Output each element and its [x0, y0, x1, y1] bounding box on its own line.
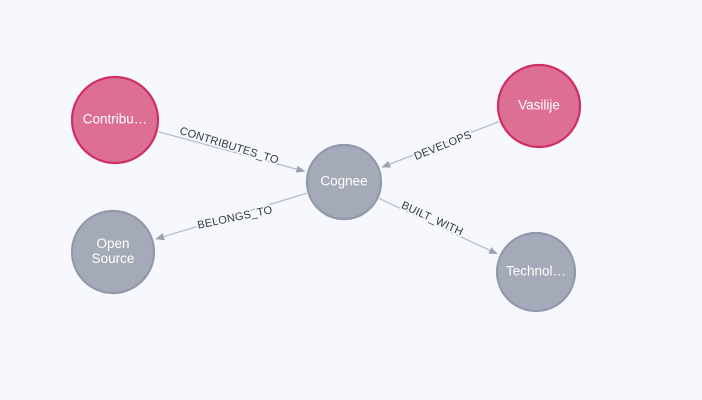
edge-arrowhead-icon: [381, 161, 391, 168]
edge-line: [158, 132, 296, 169]
graph-visualization[interactable]: Contribu…VasilijeCogneeOpenSourceTechnol…: [0, 0, 702, 400]
node-circle[interactable]: [72, 211, 154, 293]
graph-canvas[interactable]: Contribu…VasilijeCogneeOpenSourceTechnol…: [0, 0, 702, 400]
node-circle[interactable]: [498, 65, 580, 147]
edge-line: [379, 199, 490, 251]
edge-label-group: DEVELOPSDEVELOPS: [412, 129, 473, 163]
edge-label-halo: DEVELOPS: [412, 129, 473, 163]
node-circle[interactable]: [307, 145, 381, 219]
nodes-layer: Contribu…VasilijeCogneeOpenSourceTechnol…: [72, 65, 580, 311]
edge-line: [390, 122, 499, 165]
graph-edge[interactable]: [158, 132, 305, 173]
node-circle[interactable]: [497, 233, 575, 311]
graph-edge[interactable]: [381, 122, 499, 168]
edge-label-built_with: BUILT_WITH: [399, 199, 464, 238]
graph-edge[interactable]: [155, 193, 307, 240]
edge-arrowhead-icon: [488, 247, 498, 254]
edge-label-group: BELONGS_TOBELONGS_TO: [196, 204, 273, 232]
graph-node-cognee[interactable]: Cognee: [307, 145, 381, 219]
edge-line: [164, 193, 307, 236]
node-circle[interactable]: [72, 77, 158, 163]
edge-arrowhead-icon: [296, 166, 306, 173]
graph-edge[interactable]: [379, 199, 498, 255]
edge-label-group: BUILT_WITHBUILT_WITH: [399, 199, 464, 238]
edge-label-belongs_to: BELONGS_TO: [196, 204, 273, 232]
graph-node-technology[interactable]: Technol…: [497, 233, 575, 311]
graph-node-contributor[interactable]: Contribu…: [72, 77, 158, 163]
graph-node-open_source[interactable]: OpenSource: [72, 211, 154, 293]
edge-label-halo: BUILT_WITH: [399, 199, 464, 238]
graph-node-vasilije[interactable]: Vasilije: [498, 65, 580, 147]
edge-label-develops: DEVELOPS: [412, 129, 473, 163]
edge-label-halo: BELONGS_TO: [196, 204, 273, 232]
edge-arrowhead-icon: [155, 233, 165, 240]
